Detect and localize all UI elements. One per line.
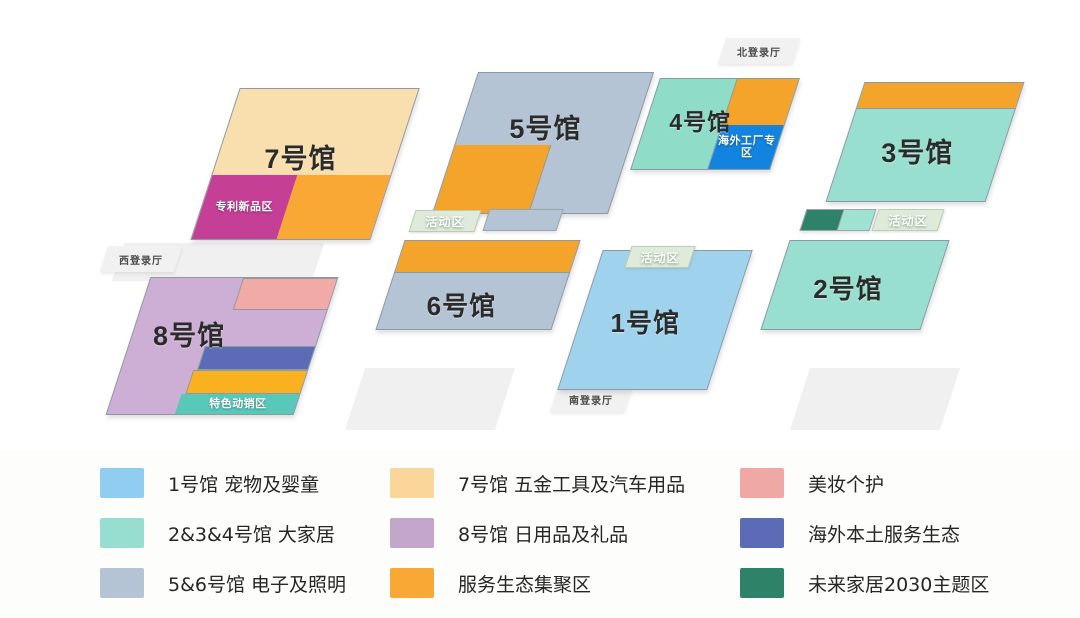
hall-7-zone-service-eco[interactable] <box>276 175 392 240</box>
legend-column-2: 7号馆 五金工具及汽车用品 8号馆 日用品及礼品 服务生态集聚区 <box>390 458 685 608</box>
background-plate-right <box>790 368 960 430</box>
hall-8-label: 8号馆 <box>153 314 225 353</box>
legend-column-3: 美妆个护 海外本土服务生态 未来家居2030主题区 <box>740 458 989 608</box>
legend-item[interactable]: 8号馆 日用品及礼品 <box>390 508 685 558</box>
legend-swatch-overseas-local <box>740 518 784 548</box>
legend-label-overseas-local: 海外本土服务生态 <box>808 520 960 547</box>
hall-8[interactable]: 特色动销区 8号馆 <box>106 277 339 415</box>
hall-8-zone-service-eco[interactable] <box>185 370 309 394</box>
hall3-teal-strip <box>837 209 876 231</box>
legend-column-1: 1号馆 宠物及婴童 2&3&4号馆 大家居 5&6号馆 电子及照明 <box>100 458 346 608</box>
legend-item[interactable]: 2&3&4号馆 大家居 <box>100 508 346 558</box>
entrance-north-label: 北登录厅 <box>722 38 796 64</box>
legend-swatch-future-home <box>740 568 784 598</box>
legend-label-beauty: 美妆个护 <box>808 470 884 497</box>
hall-7[interactable]: 专利新品区 7号馆 <box>190 88 419 240</box>
legend-swatch-hall7 <box>390 468 434 498</box>
hall-1-label: 1号馆 <box>611 303 680 340</box>
hall-5-label: 5号馆 <box>509 107 581 146</box>
hall-3-label: 3号馆 <box>881 131 953 170</box>
legend-label-hall1: 1号馆 宠物及婴童 <box>168 470 319 497</box>
legend-item[interactable]: 海外本土服务生态 <box>740 508 989 558</box>
legend-label-hall8: 8号馆 日用品及礼品 <box>458 520 628 547</box>
entrance-north: 北登录厅 <box>718 38 800 64</box>
legend-swatch-hall56 <box>100 568 144 598</box>
activity-zone-badge-hall1[interactable]: 活动区 <box>624 246 695 268</box>
legend-label-hall234: 2&3&4号馆 大家居 <box>168 520 335 547</box>
legend-swatch-hall1 <box>100 468 144 498</box>
exhibition-floor-map: 北登录厅 西登录厅 南登录厅 专利新品区 7号馆 特色动销区 8号馆 5号馆 活… <box>0 0 1080 450</box>
activity-zone-badge-hall3[interactable]: 活动区 <box>871 209 944 231</box>
legend-label-hall7: 7号馆 五金工具及汽车用品 <box>458 470 685 497</box>
hall-6[interactable]: 6号馆 <box>375 240 580 330</box>
activity-zone-badge-hall5-label: 活动区 <box>413 211 477 231</box>
hall-4-zone-service-eco[interactable] <box>722 79 800 125</box>
entrance-west-label: 西登录厅 <box>104 246 178 272</box>
hall-2[interactable]: 2号馆 <box>760 240 949 330</box>
hall-2-label: 2号馆 <box>813 269 882 306</box>
legend-item[interactable]: 5&6号馆 电子及照明 <box>100 558 346 608</box>
hall-5[interactable]: 5号馆 <box>432 72 654 214</box>
legend-item[interactable]: 7号馆 五金工具及汽车用品 <box>390 458 685 508</box>
legend-label-hall56: 5&6号馆 电子及照明 <box>168 570 346 597</box>
legend-swatch-beauty <box>740 468 784 498</box>
hall-7-label: 7号馆 <box>264 137 336 176</box>
legend-label-service-eco: 服务生态集聚区 <box>458 570 591 597</box>
legend-item[interactable]: 1号馆 宠物及婴童 <box>100 458 346 508</box>
hall-8-zone-feature-sales-label: 特色动销区 <box>178 394 298 415</box>
background-plate-left <box>345 368 515 430</box>
activity-zone-badge-hall5[interactable]: 活动区 <box>408 210 481 232</box>
hall-6-label: 6号馆 <box>427 286 496 323</box>
hall5-grey-strip <box>482 209 563 231</box>
hall-8-zone-feature-sales[interactable]: 特色动销区 <box>174 394 301 415</box>
hall-5-zone-service-eco[interactable] <box>433 145 552 214</box>
hall-6-zone-service-eco[interactable] <box>395 241 581 273</box>
hall-4[interactable]: 海外工厂专区 4号馆 <box>630 78 800 170</box>
hall-8-zone-beauty[interactable] <box>233 278 339 310</box>
entrance-west: 西登录厅 <box>100 246 182 272</box>
map-legend: 1号馆 宠物及婴童 2&3&4号馆 大家居 5&6号馆 电子及照明 7号馆 五金… <box>0 450 1080 618</box>
hall-3-zone-service-eco[interactable] <box>857 83 1025 109</box>
hall-4-label: 4号馆 <box>669 103 731 137</box>
legend-swatch-hall8 <box>390 518 434 548</box>
legend-swatch-hall234 <box>100 518 144 548</box>
legend-item[interactable]: 美妆个护 <box>740 458 989 508</box>
activity-zone-badge-hall1-label: 活动区 <box>629 247 691 267</box>
legend-item[interactable]: 服务生态集聚区 <box>390 558 685 608</box>
activity-zone-badge-hall3-label: 活动区 <box>876 210 940 230</box>
legend-swatch-service-eco <box>390 568 434 598</box>
legend-item[interactable]: 未来家居2030主题区 <box>740 558 989 608</box>
hall-1[interactable]: 1号馆 <box>557 250 752 390</box>
hall-7-zone-patent-new-product-label: 专利新品区 <box>202 175 287 240</box>
hall-3[interactable]: 3号馆 <box>826 82 1025 202</box>
legend-label-future-home: 未来家居2030主题区 <box>808 570 989 597</box>
